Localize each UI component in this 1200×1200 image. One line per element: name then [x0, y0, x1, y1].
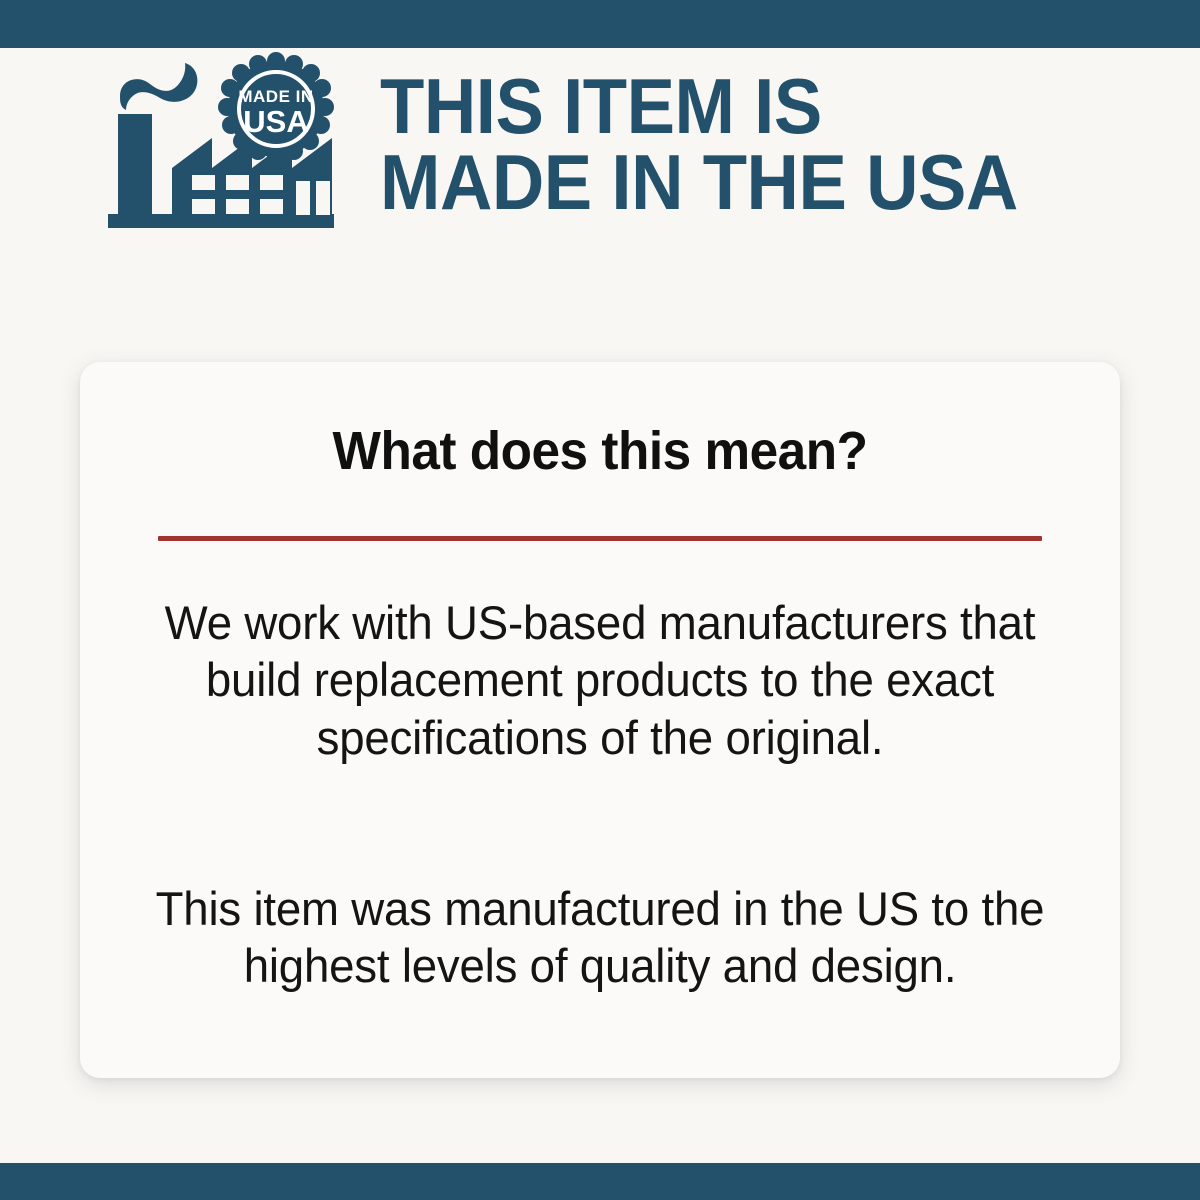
- bottom-accent-bar: [0, 1163, 1200, 1200]
- factory-icon: MADE IN USA: [100, 52, 338, 237]
- made-in-usa-logo: MADE IN USA: [100, 52, 338, 237]
- made-in-usa-badge-icon: MADE IN USA: [218, 52, 334, 165]
- headline-line-1: THIS ITEM IS: [380, 69, 1105, 145]
- top-accent-bar: [0, 0, 1200, 48]
- badge-line-2: USA: [243, 104, 308, 139]
- card-paragraph-1: We work with US-based manufacturers that…: [154, 594, 1046, 766]
- card-title: What does this mean?: [106, 420, 1094, 482]
- header-banner: MADE IN USA THIS ITEM IS MADE IN THE USA: [100, 52, 1160, 237]
- card-divider: [158, 536, 1042, 541]
- info-card: What does this mean? We work with US-bas…: [80, 362, 1120, 1078]
- card-paragraph-2: This item was manufactured in the US to …: [154, 880, 1046, 995]
- page-title: THIS ITEM IS MADE IN THE USA: [380, 69, 1105, 220]
- headline-line-2: MADE IN THE USA: [380, 145, 1105, 221]
